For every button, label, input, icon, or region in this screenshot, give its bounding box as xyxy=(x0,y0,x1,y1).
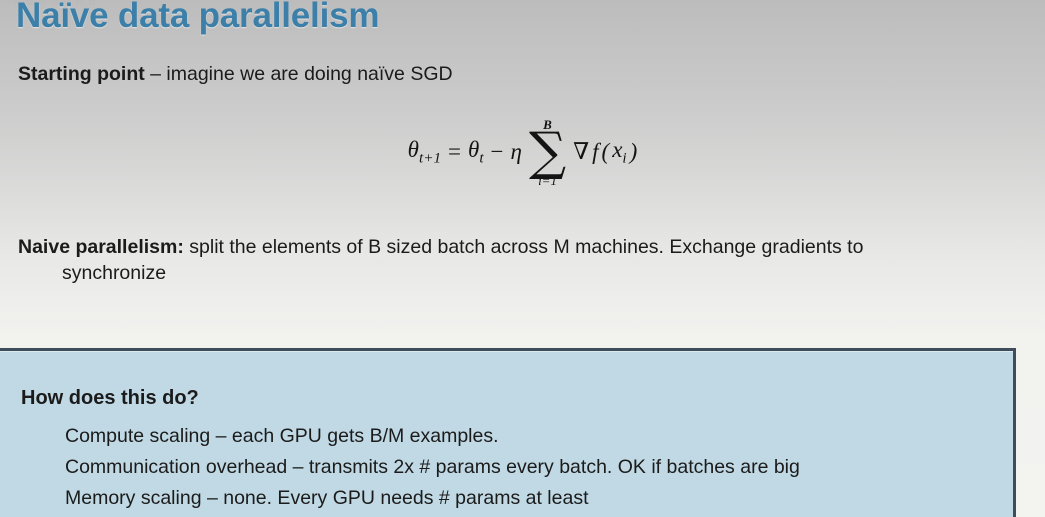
minus-sign: − xyxy=(491,139,504,165)
page-title: Naïve data parallelism xyxy=(16,0,379,36)
sum-lower-limit: i=1 xyxy=(538,174,557,187)
x-symbol: x xyxy=(612,137,622,162)
nabla-icon: ∇ xyxy=(573,139,589,165)
list-item: Memory scaling – none. Every GPU needs #… xyxy=(65,483,800,514)
starting-point-text: – imagine we are doing naïve SGD xyxy=(145,63,453,85)
starting-point-label: Starting point xyxy=(18,63,145,85)
theta-symbol: θ xyxy=(408,137,419,162)
sgd-update-equation: θt+1 = θt − η B ∑ i=1 ∇ f ( xi ) xyxy=(0,118,1045,187)
sigma-icon: ∑ xyxy=(529,132,566,173)
equation-theta-next: θt+1 xyxy=(408,137,441,167)
starting-point-paragraph: Starting point – imagine we are doing na… xyxy=(18,61,453,87)
function-f: f xyxy=(592,139,598,165)
eta-symbol: η xyxy=(511,139,522,165)
equals-sign: = xyxy=(448,139,461,165)
list-item: Communication overhead – transmits 2x # … xyxy=(65,452,800,483)
theta-t-subscript: t xyxy=(479,149,483,166)
callout-heading: How does this do? xyxy=(21,387,199,410)
summation-operator: B ∑ i=1 xyxy=(529,118,566,187)
naive-parallelism-label: Naive parallelism: xyxy=(18,236,184,258)
close-paren: ) xyxy=(630,139,638,165)
slide-canvas: sp g g g g p g # Naïve data parallelism … xyxy=(0,0,1045,517)
naive-parallelism-continuation: synchronize xyxy=(62,260,1013,286)
x-subscript: i xyxy=(622,149,626,166)
equation-x-i: xi xyxy=(612,137,626,167)
how-does-this-do-callout: How does this do? Compute scaling – each… xyxy=(0,348,1016,517)
equation-theta-t: θt xyxy=(468,137,484,167)
naive-parallelism-paragraph: Naive parallelism: split the elements of… xyxy=(18,234,1013,286)
naive-parallelism-text: split the elements of B sized batch acro… xyxy=(184,236,864,258)
list-item: Compute scaling – each GPU gets B/M exam… xyxy=(65,421,800,452)
theta-next-subscript: t+1 xyxy=(419,149,441,166)
callout-bullet-list: Compute scaling – each GPU gets B/M exam… xyxy=(65,421,800,514)
open-paren: ( xyxy=(602,139,610,165)
theta-symbol-2: θ xyxy=(468,137,479,162)
